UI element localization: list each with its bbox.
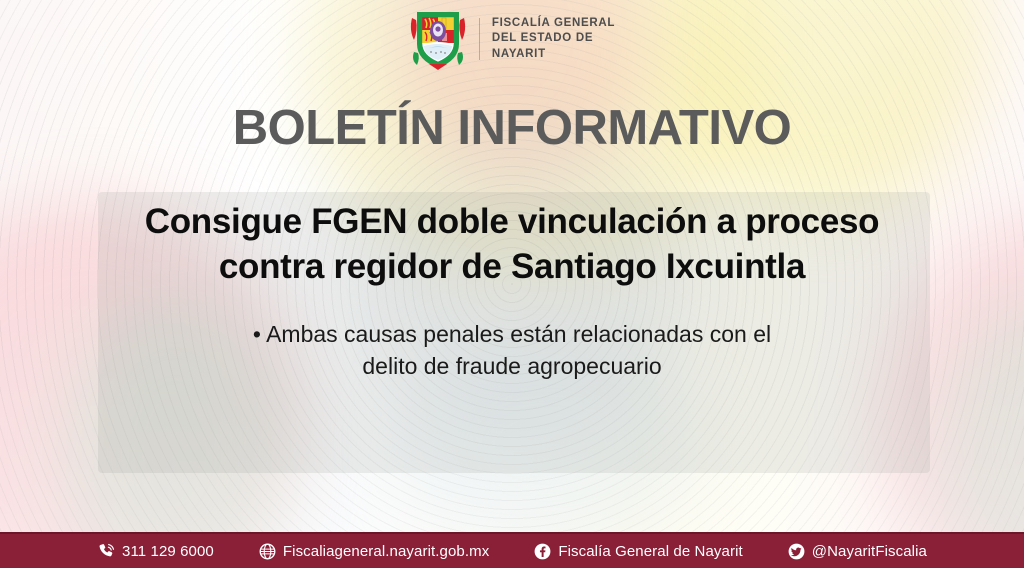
footer-twitter[interactable]: @NayaritFiscalia	[787, 542, 927, 561]
globe-icon	[258, 542, 277, 561]
subtitle-line2: delito de fraude agropecuario	[120, 350, 904, 383]
subtitle-bullet: • Ambas causas penales están relacionada…	[0, 318, 1024, 383]
bulletin-kicker: BOLETÍN INFORMATIVO	[0, 100, 1024, 156]
headline: Consigue FGEN doble vinculación a proces…	[0, 200, 1024, 290]
subtitle-line1: • Ambas causas penales están relacionada…	[120, 318, 904, 351]
footer-facebook[interactable]: Fiscalía General de Nayarit	[533, 542, 742, 561]
organization-name: FISCALÍA GENERAL DEL ESTADO DE NAYARIT	[492, 16, 615, 63]
footer-facebook-text: Fiscalía General de Nayarit	[558, 543, 742, 560]
header-divider	[479, 18, 480, 60]
contact-footer-bar: 311 129 6000 Fiscaliageneral.nayarit.gob…	[0, 532, 1024, 568]
boletin-poster: FISCALÍA GENERAL DEL ESTADO DE NAYARIT B…	[0, 0, 1024, 568]
footer-website-text: Fiscaliageneral.nayarit.gob.mx	[283, 543, 489, 560]
bulletin-content: Consigue FGEN doble vinculación a proces…	[0, 200, 1024, 383]
footer-phone-text: 311 129 6000	[122, 543, 214, 560]
footer-website[interactable]: Fiscaliageneral.nayarit.gob.mx	[258, 542, 489, 561]
organization-name-line3: NAYARIT	[492, 47, 615, 63]
headline-line1: Consigue FGEN doble vinculación a proces…	[70, 200, 954, 245]
phone-icon	[97, 542, 116, 561]
footer-phone: 311 129 6000	[97, 542, 214, 561]
nayarit-coat-of-arms-icon	[409, 8, 467, 70]
facebook-icon	[533, 542, 552, 561]
organization-name-line2: DEL ESTADO DE	[492, 31, 615, 47]
twitter-icon	[787, 542, 806, 561]
footer-twitter-text: @NayaritFiscalia	[812, 543, 927, 560]
organization-name-line1: FISCALÍA GENERAL	[492, 16, 615, 32]
institution-header: FISCALÍA GENERAL DEL ESTADO DE NAYARIT	[0, 8, 1024, 70]
headline-line2: contra regidor de Santiago Ixcuintla	[70, 245, 954, 290]
